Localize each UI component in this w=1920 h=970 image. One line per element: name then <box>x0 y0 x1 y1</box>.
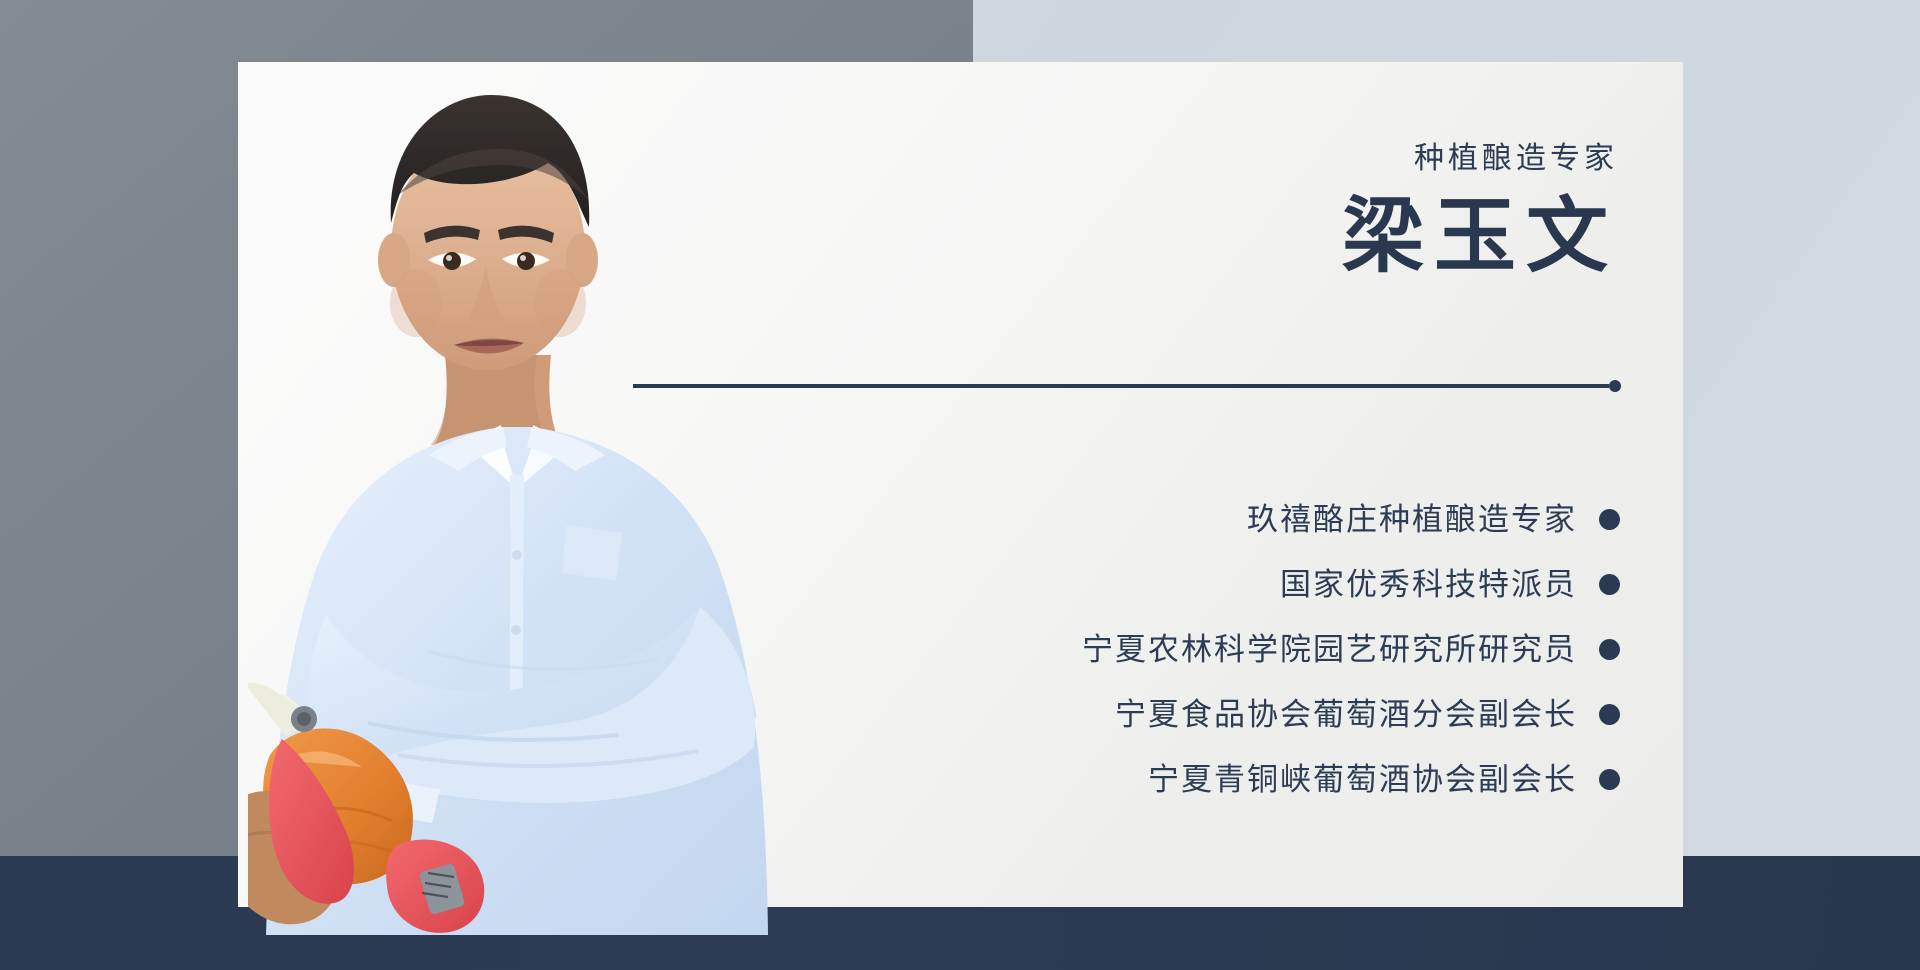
bullet-dot-icon <box>1599 574 1620 595</box>
list-item: 玖禧酪庄种植酿造专家 <box>700 487 1620 552</box>
divider-line <box>633 384 1609 388</box>
credential-label: 宁夏青铜峡葡萄酒协会副会长 <box>1148 764 1577 795</box>
list-item: 宁夏农林科学院园艺研究所研究员 <box>700 617 1620 682</box>
page-title: 梁玉文 <box>700 192 1620 282</box>
bullet-dot-icon <box>1599 769 1620 790</box>
credential-label: 宁夏农林科学院园艺研究所研究员 <box>1082 634 1577 665</box>
credential-label: 玖禧酪庄种植酿造专家 <box>1247 504 1577 535</box>
page-subtitle: 种植酿造专家 <box>700 140 1620 178</box>
credentials-list: 玖禧酪庄种植酿造专家 国家优秀科技特派员 宁夏农林科学院园艺研究所研究员 宁夏食… <box>700 487 1620 812</box>
poster-canvas: 种植酿造专家 梁玉文 玖禧酪庄种植酿造专家 国家优秀科技特派员 宁夏农林科学院园… <box>0 0 1920 970</box>
title-block: 种植酿造专家 梁玉文 <box>700 140 1620 282</box>
bullet-dot-icon <box>1599 704 1620 725</box>
list-item: 国家优秀科技特派员 <box>700 552 1620 617</box>
divider-end-dot-icon <box>1609 380 1621 392</box>
bullet-dot-icon <box>1599 509 1620 530</box>
divider <box>633 380 1621 392</box>
list-item: 宁夏食品协会葡萄酒分会副会长 <box>700 682 1620 747</box>
bullet-dot-icon <box>1599 639 1620 660</box>
credential-label: 宁夏食品协会葡萄酒分会副会长 <box>1115 699 1577 730</box>
list-item: 宁夏青铜峡葡萄酒协会副会长 <box>700 747 1620 812</box>
credential-label: 国家优秀科技特派员 <box>1280 569 1577 600</box>
